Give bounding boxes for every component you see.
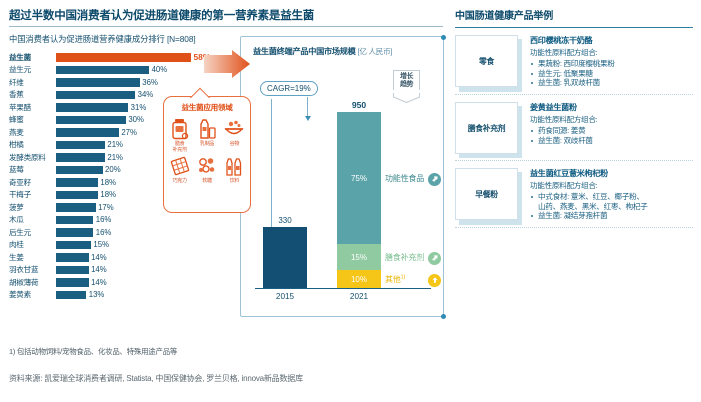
ranking-bar-label: 肉桂 (9, 239, 56, 251)
bar-2021-value: 950 (337, 100, 381, 110)
application-icon-label: 膳食补充剂 (173, 141, 187, 153)
application-icon-label: 软糖 (202, 178, 211, 184)
ranking-bar-row: 木瓜16% (9, 214, 237, 226)
ranking-bar-label: 干梅子 (9, 189, 56, 201)
ranking-bar-label: 苹果醋 (9, 102, 56, 114)
x-tick-2021: 2021 (337, 292, 381, 301)
ranking-bar-label: 蜂蜜 (9, 114, 56, 126)
ranking-bar-value: 34% (135, 89, 153, 101)
ranking-bar-track: 16% (56, 214, 237, 226)
ranking-bar-track: 13% (56, 289, 237, 301)
ranking-bar-track: 14% (56, 277, 237, 289)
ranking-bar-label: 纤维 (9, 77, 56, 89)
product-name: 姜黄益生菌粉 (530, 102, 695, 113)
ranking-bar-value: 14% (89, 252, 107, 264)
ranking-bar-fill (56, 66, 149, 75)
bar-2015-value: 330 (263, 216, 307, 225)
gummy-candy-icon (197, 154, 217, 178)
market-size-plot: 330201575%15%10%9502021其他1)膳食补充剂功能性食品 (255, 97, 431, 289)
ranking-bar-label: 柑橘 (9, 139, 56, 151)
page-title: 超过半数中国消费者认为促进肠道健康的第一营养素是益生菌 (9, 7, 439, 23)
ranking-bar-row: 姜黄素13% (9, 289, 237, 301)
market-chart-title: 益生菌终端产品中国市场规模 [亿 人民币] (253, 45, 392, 57)
application-icon-cell: 软糖 (193, 154, 220, 184)
ranking-bar-value: 17% (96, 202, 114, 214)
ranking-bar-value: 27% (119, 127, 137, 139)
ranking-bar-label: 燕麦 (9, 127, 56, 139)
ranking-bar-fill (56, 291, 86, 300)
probiotic-application-callout: 益生菌应用领域 膳食补充剂乳制品谷物巧克力软糖饮料 (163, 96, 251, 213)
ranking-bar-track: 16% (56, 227, 237, 239)
panel-corner-dot-tr (441, 35, 446, 40)
bar-2015-column: 3302015 (263, 227, 307, 288)
stack-label-功能性食品: 功能性食品 (385, 173, 424, 184)
ranking-bar-label: 蓝莓 (9, 164, 56, 176)
stack-label-膳食补充剂: 膳食补充剂 (385, 252, 424, 263)
product-category-box: 零食 (455, 35, 518, 87)
ranking-bar-fill (56, 53, 191, 62)
product-examples-panel: 中国肠道健康产品举例 零食西印樱桃冻干奶酪功能性原料配方组合:果蔬粉: 西印度樱… (455, 7, 695, 228)
application-icon-label: 乳制品 (200, 141, 214, 147)
ranking-bar-row: 羽衣甘蓝14% (9, 264, 237, 276)
product-ingredient-item: 果蔬粉: 西印度樱桃果粉 (530, 59, 695, 69)
ranking-bar-label: 香蕉 (9, 89, 56, 101)
category-wrapper: 零食 (455, 35, 518, 88)
ranking-bar-fill (56, 141, 105, 150)
ranking-bar-value: 16% (93, 214, 111, 226)
product-divider (455, 94, 693, 95)
arrow-up-right-icon (428, 252, 441, 265)
market-chart-title-text: 益生菌终端产品中国市场规模 (253, 47, 356, 56)
callout-title: 益生菌应用领域 (164, 102, 250, 113)
ranking-bar-value: 13% (86, 289, 104, 301)
ranking-bar-track: 14% (56, 252, 237, 264)
arrow-up-icon (428, 274, 441, 287)
application-icon-label: 谷物 (230, 141, 239, 147)
arrow-up-right-icon (428, 173, 441, 186)
category-wrapper: 膳食补充剂 (455, 102, 518, 154)
bar-2015 (263, 227, 307, 288)
ranking-bar-label: 奇亚籽 (9, 177, 56, 189)
application-icon-cell: 饮料 (221, 154, 248, 184)
ranking-bar-value: 20% (103, 164, 121, 176)
ranking-bar-row: 后生元16% (9, 227, 237, 239)
beverage-bottle-icon (224, 154, 244, 178)
ranking-bar-value: 15% (91, 239, 109, 251)
product-detail: 益生菌红豆薏米枸杞粉功能性原料配方组合:中式食材: 薏米、红豆、椰子粉、山药、燕… (530, 168, 695, 221)
growth-trend-line1: 增长 (394, 73, 419, 81)
ranking-bar-fill (56, 203, 96, 212)
ranking-bar-value: 36% (140, 77, 158, 89)
growth-trend-label: 增长 趋势 (393, 70, 420, 90)
product-ingredient-item: 山药、燕麦、黑米、红枣、枸杞子 (530, 202, 695, 212)
slide-root: 超过半数中国消费者认为促进肠道健康的第一营养素是益生菌 中国消费者认为促进肠道营… (0, 0, 701, 402)
ranking-bar-value: 40% (149, 64, 167, 76)
ranking-bar-track: 15% (56, 239, 237, 251)
ranking-bar-track: 14% (56, 264, 237, 276)
ranking-bar-label: 后生元 (9, 227, 56, 239)
ranking-bar-value: 30% (126, 114, 144, 126)
panel-corner-dot-br (441, 314, 446, 319)
ranking-bar-label: 羽衣甘蓝 (9, 264, 56, 276)
product-divider (455, 227, 693, 228)
category-wrapper: 早餐粉 (455, 168, 518, 221)
application-icon-cell: 乳制品 (193, 117, 220, 153)
market-chart-unit: [亿 人民币] (358, 47, 393, 56)
ranking-bar-fill (56, 78, 140, 87)
chocolate-bar-icon (170, 154, 190, 178)
ranking-bar-fill (56, 153, 105, 162)
ranking-bar-value: 31% (128, 102, 146, 114)
product-examples-divider (455, 27, 693, 28)
application-icon-grid: 膳食补充剂乳制品谷物巧克力软糖饮料 (164, 117, 250, 184)
ranking-bar-value: 21% (105, 152, 123, 164)
ranking-bar-label: 菠萝 (9, 202, 56, 214)
orange-transition-arrow-icon (204, 50, 250, 78)
product-name: 西印樱桃冻干奶酪 (530, 35, 695, 46)
application-icon-label: 巧克力 (173, 178, 187, 184)
ranking-bar-fill (56, 128, 119, 137)
bar-2021-column: 75%15%10%9502021 (337, 112, 381, 288)
product-example-block: 零食西印樱桃冻干奶酪功能性原料配方组合:果蔬粉: 西印度樱桃果粉益生元: 低聚果… (455, 35, 695, 88)
ranking-bar-fill (56, 228, 93, 237)
ranking-bar-row: 益生元40% (9, 64, 237, 76)
product-name: 益生菌红豆薏米枸杞粉 (530, 168, 695, 179)
ranking-bar-fill (56, 116, 126, 125)
ranking-bar-fill (56, 241, 91, 250)
ranking-bar-row: 胡椒薄荷14% (9, 277, 237, 289)
stack-segment-其他: 10% (337, 270, 381, 288)
ranking-bar-fill (56, 216, 93, 225)
ranking-bar-row: 生姜14% (9, 252, 237, 264)
ranking-bar-label: 益生元 (9, 64, 56, 76)
product-ingredient-item: 益生菌: 双歧杆菌 (530, 136, 695, 146)
ranking-bar-fill (56, 191, 98, 200)
product-example-block: 早餐粉益生菌红豆薏米枸杞粉功能性原料配方组合:中式食材: 薏米、红豆、椰子粉、山… (455, 168, 695, 221)
supplement-bottle-icon (170, 117, 190, 141)
product-category-box: 早餐粉 (455, 168, 518, 220)
ranking-bar-fill (56, 178, 98, 187)
ranking-bar-value: 18% (98, 189, 116, 201)
product-example-block: 膳食补充剂姜黄益生菌粉功能性原料配方组合:药食同源: 姜黄益生菌: 双歧杆菌 (455, 102, 695, 154)
product-category-box: 膳食补充剂 (455, 102, 518, 154)
ranking-bar-value: 14% (89, 277, 107, 289)
product-ingredient-item: 益生菌: 乳双歧杆菌 (530, 78, 695, 88)
application-icon-label: 饮料 (230, 178, 239, 184)
ranking-bar-label: 发酵类原料 (9, 152, 56, 164)
ranking-bar-row: 肉桂15% (9, 239, 237, 251)
ranking-bar-value: 21% (105, 139, 123, 151)
ranking-bar-label: 姜黄素 (9, 289, 56, 301)
growth-trend-banner-tail-icon (393, 93, 420, 103)
stack-segment-膳食补充剂: 15% (337, 244, 381, 270)
x-axis-line (255, 288, 431, 289)
product-ingredient-item: 益生菌: 凝结芽孢杆菌 (530, 211, 695, 221)
application-icon-cell: 膳食补充剂 (166, 117, 193, 153)
ranking-bar-row: 益生菌58% (9, 52, 237, 64)
product-subtitle: 功能性原料配方组合: (530, 47, 695, 58)
product-detail: 西印樱桃冻干奶酪功能性原料配方组合:果蔬粉: 西印度樱桃果粉益生元: 低聚果糖益… (530, 35, 695, 88)
product-list: 零食西印樱桃冻干奶酪功能性原料配方组合:果蔬粉: 西印度樱桃果粉益生元: 低聚果… (455, 35, 695, 228)
ranking-bar-fill (56, 103, 128, 112)
footnote-text: 1) 包括动物饲料/宠物食品、化妆品、特殊用途产品等 (9, 346, 177, 357)
market-size-panel: 益生菌终端产品中国市场规模 [亿 人民币] CAGR=19% 增长 趋势 330… (240, 36, 444, 317)
ranking-bar-label: 木瓜 (9, 214, 56, 226)
application-icon-cell: 巧克力 (166, 154, 193, 184)
ranking-bar-fill (56, 91, 135, 100)
product-detail: 姜黄益生菌粉功能性原料配方组合:药食同源: 姜黄益生菌: 双歧杆菌 (530, 102, 695, 154)
source-text: 资料来源: 凯爱瑞全球消费者调研, Statista, 中国保健协会, 罗兰贝格… (9, 373, 303, 384)
ranking-bar-fill (56, 278, 89, 287)
growth-trend-line2: 趋势 (394, 81, 419, 89)
ranking-bar-value: 16% (93, 227, 111, 239)
ranking-bar-label: 益生菌 (9, 52, 56, 64)
ranking-bar-value: 18% (98, 177, 116, 189)
x-tick-2015: 2015 (263, 292, 307, 301)
application-icon-cell: 谷物 (221, 117, 248, 153)
title-divider (9, 26, 443, 27)
product-ingredient-item: 药食同源: 姜黄 (530, 126, 695, 136)
growth-trend-banner: 增长 趋势 (393, 70, 420, 108)
ranking-bar-label: 生姜 (9, 252, 56, 264)
ranking-bar-fill (56, 166, 103, 175)
product-subtitle: 功能性原料配方组合: (530, 180, 695, 191)
ranking-bar-fill (56, 266, 89, 275)
ranking-bar-label: 胡椒薄荷 (9, 277, 56, 289)
product-examples-title: 中国肠道健康产品举例 (455, 7, 695, 22)
dairy-carton-icon (197, 117, 217, 141)
cereal-bowl-icon (224, 117, 244, 141)
stack-segment-功能性食品: 75% (337, 112, 381, 244)
callout-pointer (188, 86, 214, 98)
cagr-badge: CAGR=19% (260, 81, 318, 96)
ranking-bar-fill (56, 253, 89, 262)
ranking-chart-subtitle: 中国消费者认为促进肠道营养健康成分排行 [N=808] (9, 33, 237, 45)
ranking-bar-value: 14% (89, 264, 107, 276)
product-ingredient-item: 中式食材: 薏米、红豆、椰子粉、 (530, 192, 695, 202)
product-divider (455, 160, 693, 161)
stack-label-其他: 其他1) (385, 274, 405, 285)
product-subtitle: 功能性原料配方组合: (530, 114, 695, 125)
